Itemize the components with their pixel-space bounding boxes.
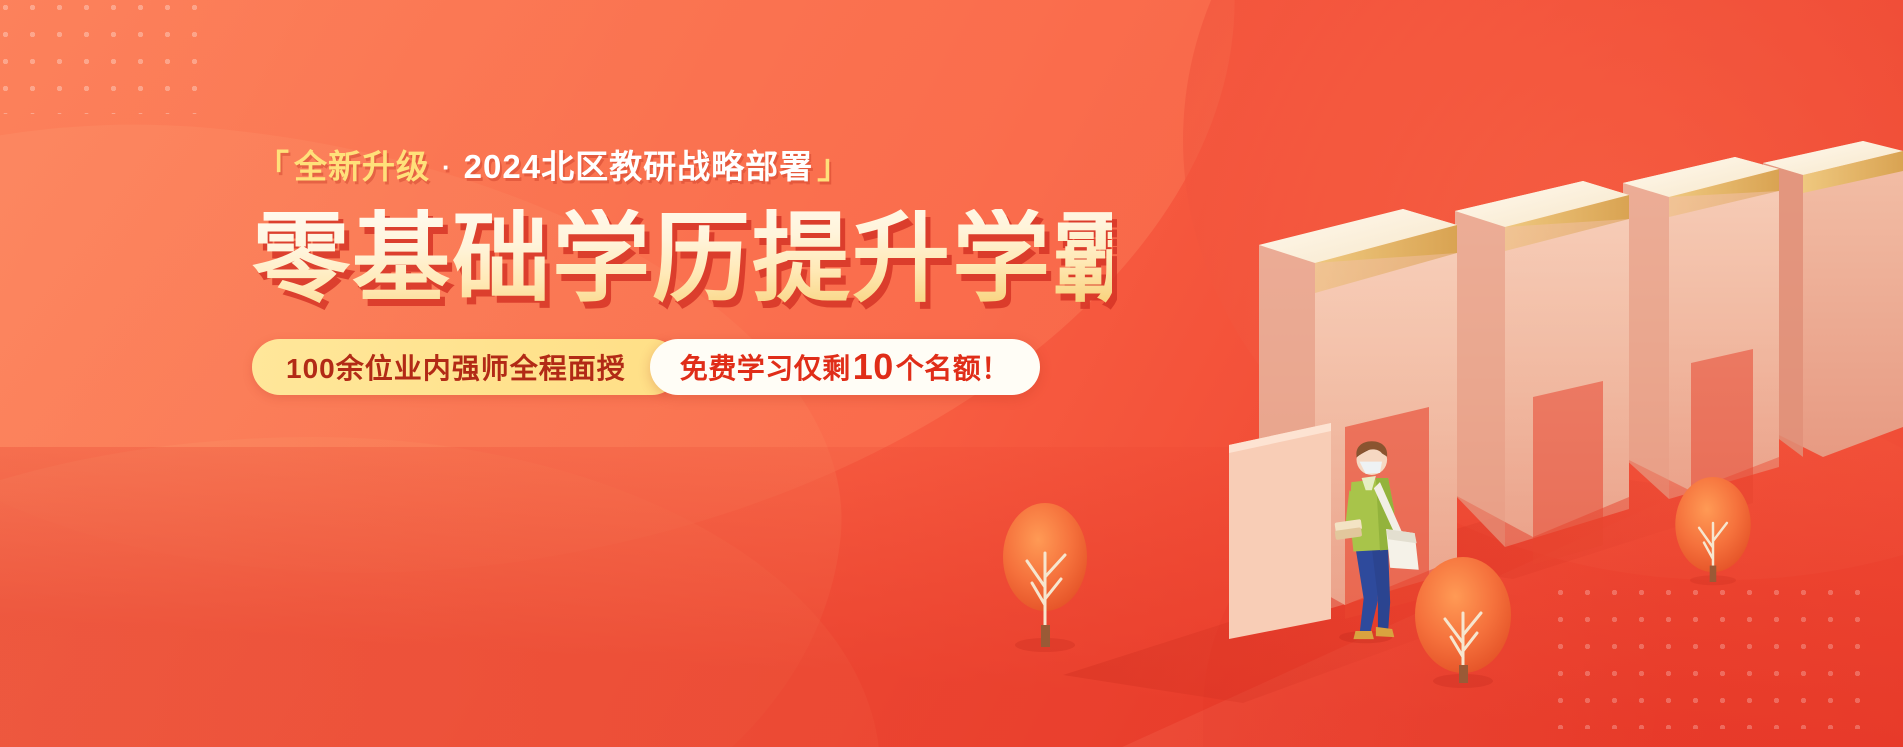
badge-free-slots[interactable]: 免费学习仅剩 10 个名额！ [650,339,1040,395]
book-arch-2 [1455,181,1629,565]
badge-free-slots-prefix: 免费学习仅剩 [680,347,851,387]
banner-copy: 「 全新升级 · 2024北区教研战略部署 」 零基础学历提升学霸班 100余位… [252,150,1112,395]
tree-far-right [1675,477,1750,585]
book-arch-3 [1623,157,1779,519]
banner-subtitle: 「 全新升级 · 2024北区教研战略部署 」 [252,150,1112,183]
badge-instructors-label: 100余位业内强师全程面授 [286,347,626,387]
book-arch-4 [1763,141,1903,457]
subtitle-rest: 2024北区教研战略部署 [464,150,813,183]
held-books [1334,519,1362,540]
dot-grid-top-left-icon [0,0,207,114]
badge-free-slots-suffix: 个名额！ [896,347,1010,387]
promo-banner: 「 全新升级 · 2024北区教研战略部署 」 零基础学历提升学霸班 100余位… [0,0,1903,747]
bracket-open: 「 [256,150,290,183]
subtitle-highlight: 全新升级 [294,150,430,183]
wave-shape-3 [0,437,880,747]
tree-left-illustration [985,495,1105,655]
badge-instructors: 100余位业内强师全程面授 [252,339,680,395]
tree-right [1415,557,1511,688]
subtitle-separator: · [442,154,452,180]
book-arch-1 [1229,209,1457,639]
badge-free-slots-count: 10 [851,349,896,385]
banner-badges: 100余位业内强师全程面授 免费学习仅剩 10 个名额！ [252,339,1112,395]
bracket-close: 」 [817,150,851,183]
banner-headline: 零基础学历提升学霸班 [252,209,1112,309]
